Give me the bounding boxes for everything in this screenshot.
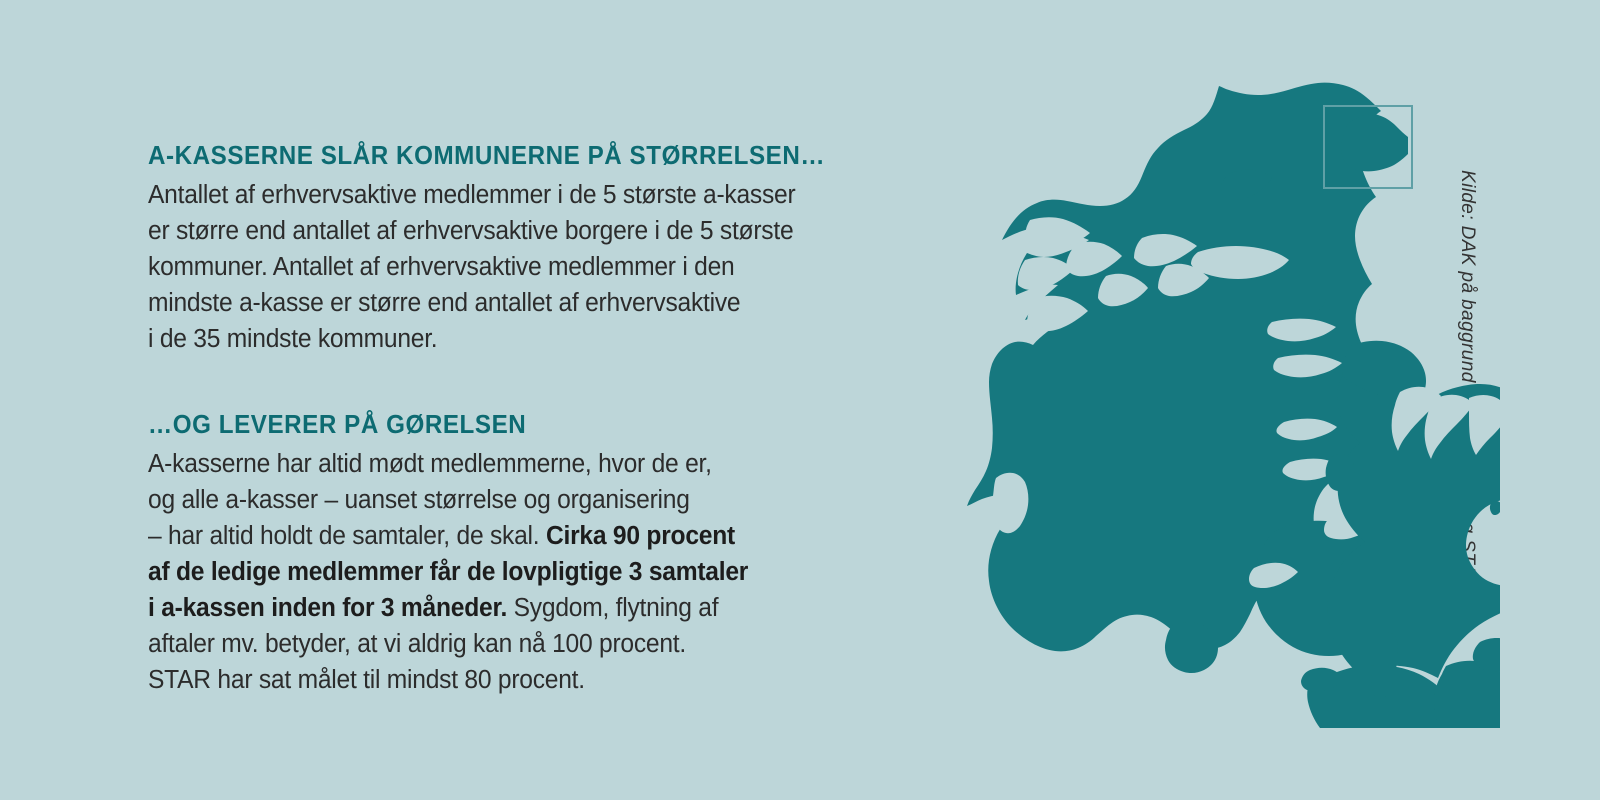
headline-one: A-KASSERNE SLÅR KOMMUNERNE PÅ STØRRELSEN… — [148, 140, 855, 171]
denmark-map — [880, 70, 1500, 730]
body-paragraph-one: Antallet af erhvervsaktive medlemmer i d… — [148, 177, 881, 357]
content-block-two: …OG LEVERER PÅ GØRELSEN A-kasserne har a… — [148, 409, 908, 698]
map-region-small-island-east — [1490, 501, 1500, 515]
map-region-bornholm — [1341, 114, 1408, 171]
headline-two: …OG LEVERER PÅ GØRELSEN — [148, 409, 855, 440]
body-paragraph-two: A-kasserne har altid mødt medlemmerne, h… — [148, 446, 881, 698]
content-block-one: A-KASSERNE SLÅR KOMMUNERNE PÅ STØRRELSEN… — [148, 140, 908, 357]
infographic-canvas: A-KASSERNE SLÅR KOMMUNERNE PÅ STØRRELSEN… — [0, 0, 1600, 800]
text-column: A-KASSERNE SLÅR KOMMUNERNE PÅ STØRRELSEN… — [148, 140, 908, 698]
